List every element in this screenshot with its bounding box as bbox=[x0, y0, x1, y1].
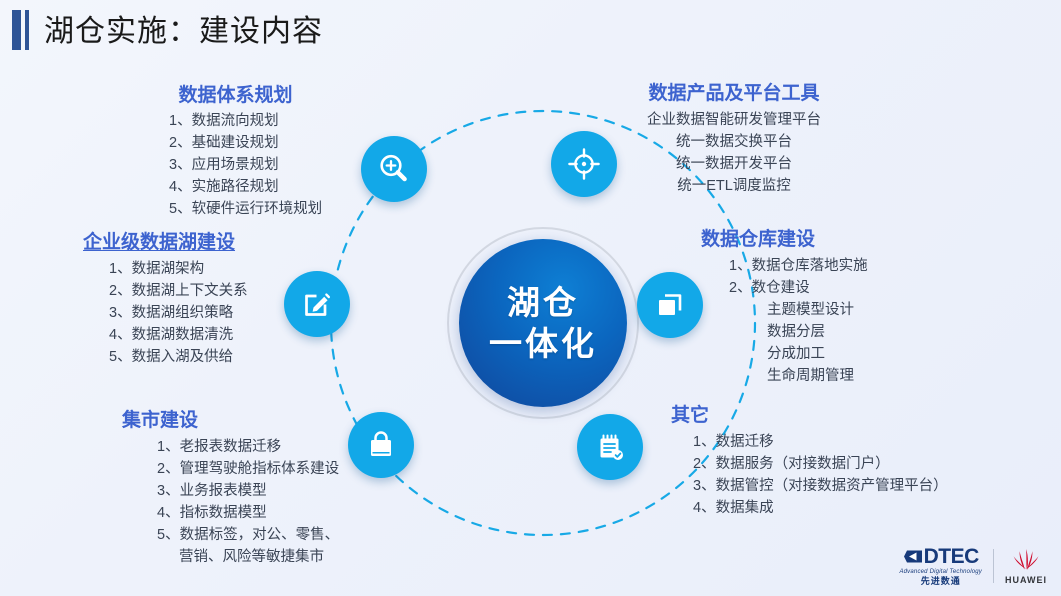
block-others: 其它 1、数据迁移 2、数据服务（对接数据门户） 3、数据管控（对接数据资产管理… bbox=[671, 404, 948, 519]
title-accent-bar-thin bbox=[25, 10, 29, 50]
node-others[interactable] bbox=[577, 414, 643, 480]
list-item: 3、数据管控（对接数据资产管理平台） bbox=[693, 475, 948, 497]
list-item: 统一ETL调度监控 bbox=[600, 175, 868, 197]
list-subitem: 生命周期管理 bbox=[729, 365, 868, 387]
list-item-continuation: 营销、风险等敏捷集市 bbox=[157, 546, 339, 568]
block-enterprise-data-lake: 企业级数据湖建设 1、数据湖架构 2、数据湖上下文关系 3、数据湖组织策略 4、… bbox=[79, 231, 248, 368]
hub-label-line1: 湖仓 bbox=[507, 282, 579, 323]
dtec-tagline: Advanced Digital Technology bbox=[899, 569, 982, 575]
list-item: 1、数据仓库落地实施 bbox=[729, 255, 868, 277]
title-accent-bar-thick bbox=[12, 10, 21, 50]
zoom-in-icon bbox=[376, 151, 412, 187]
slide-title-bar: 湖仓实施：建设内容 bbox=[0, 0, 1061, 62]
list-item: 1、数据迁移 bbox=[693, 431, 948, 453]
list-item: 1、数据流向规划 bbox=[169, 110, 322, 132]
list-item: 4、数据湖数据清洗 bbox=[109, 324, 248, 346]
block-item-list: 1、老报表数据迁移 2、管理驾驶舱指标体系建设 3、业务报表模型 4、指标数据模… bbox=[122, 436, 339, 568]
checklist-notepad-icon bbox=[592, 429, 628, 465]
block-heading: 其它 bbox=[671, 404, 948, 428]
list-item: 3、业务报表模型 bbox=[157, 480, 339, 502]
huawei-logo: HUAWEI bbox=[1005, 547, 1047, 585]
list-item: 企业数据智能研发管理平台 bbox=[600, 109, 868, 131]
list-item: 1、数据湖架构 bbox=[109, 258, 248, 280]
block-item-list: 1、数据迁移 2、数据服务（对接数据门户） 3、数据管控（对接数据资产管理平台）… bbox=[671, 431, 948, 519]
page-title: 湖仓实施：建设内容 bbox=[44, 6, 323, 50]
huawei-flower-icon bbox=[1009, 547, 1043, 573]
node-enterprise-data-lake[interactable] bbox=[284, 271, 350, 337]
block-item-list: 1、数据仓库落地实施 2、数仓建设 主题模型设计 数据分层 分成加工 生命周期管… bbox=[701, 255, 868, 387]
block-data-system-planning: 数据体系规划 1、数据流向规划 2、基础建设规划 3、应用场景规划 4、实施路径… bbox=[113, 84, 322, 220]
list-subitem: 主题模型设计 bbox=[729, 299, 868, 321]
list-item: 1、老报表数据迁移 bbox=[157, 436, 339, 458]
node-data-mart[interactable] bbox=[348, 412, 414, 478]
huawei-wordmark: HUAWEI bbox=[1005, 575, 1047, 585]
node-data-warehouse[interactable] bbox=[637, 272, 703, 338]
dtec-logo: DTEC Advanced Digital Technology 先进数通 bbox=[899, 546, 982, 586]
dtec-logo-row: DTEC bbox=[903, 546, 979, 567]
list-item: 2、管理驾驶舱指标体系建设 bbox=[157, 458, 339, 480]
block-heading: 数据体系规划 bbox=[113, 84, 322, 108]
list-item: 2、数据湖上下文关系 bbox=[109, 280, 248, 302]
list-item: 4、指标数据模型 bbox=[157, 502, 339, 524]
block-heading: 数据产品及平台工具 bbox=[600, 82, 868, 106]
shopping-bag-icon bbox=[363, 427, 399, 463]
block-data-mart: 集市建设 1、老报表数据迁移 2、管理驾驶舱指标体系建设 3、业务报表模型 4、… bbox=[122, 409, 339, 568]
block-data-products-platform: 数据产品及平台工具 企业数据智能研发管理平台 统一数据交换平台 统一数据开发平台… bbox=[600, 82, 868, 197]
list-subitem: 分成加工 bbox=[729, 343, 868, 365]
block-item-list: 企业数据智能研发管理平台 统一数据交换平台 统一数据开发平台 统一ETL调度监控 bbox=[600, 109, 868, 197]
list-item: 4、数据集成 bbox=[693, 497, 948, 519]
block-heading: 数据仓库建设 bbox=[701, 228, 868, 252]
target-icon bbox=[566, 146, 602, 182]
list-item: 4、实施路径规划 bbox=[169, 176, 322, 198]
footer-logos: DTEC Advanced Digital Technology 先进数通 HU… bbox=[899, 546, 1047, 586]
list-item: 2、基础建设规划 bbox=[169, 132, 322, 154]
block-item-list: 1、数据流向规划 2、基础建设规划 3、应用场景规划 4、实施路径规划 5、软硬… bbox=[113, 110, 322, 220]
list-item: 5、数据标签，对公、零售、 bbox=[157, 524, 339, 546]
dtec-wordmark: DTEC bbox=[924, 546, 979, 567]
hub-label-line2: 一体化 bbox=[489, 323, 597, 364]
copy-squares-icon bbox=[652, 287, 688, 323]
node-data-system-planning[interactable] bbox=[361, 136, 427, 202]
block-item-list: 1、数据湖架构 2、数据湖上下文关系 3、数据湖组织策略 4、数据湖数据清洗 5… bbox=[79, 258, 248, 368]
block-heading: 企业级数据湖建设 bbox=[79, 231, 248, 255]
block-heading: 集市建设 bbox=[122, 409, 339, 433]
list-item: 2、数仓建设 bbox=[729, 277, 868, 299]
list-item: 统一数据开发平台 bbox=[600, 153, 868, 175]
list-item: 3、应用场景规划 bbox=[169, 154, 322, 176]
list-item: 5、软硬件运行环境规划 bbox=[169, 198, 322, 220]
edit-square-icon bbox=[299, 286, 335, 322]
logo-divider bbox=[993, 549, 994, 583]
list-item: 统一数据交换平台 bbox=[600, 131, 868, 153]
list-item: 2、数据服务（对接数据门户） bbox=[693, 453, 948, 475]
list-item: 3、数据湖组织策略 bbox=[109, 302, 248, 324]
hub-center: 湖仓 一体化 bbox=[459, 239, 627, 407]
dtec-chinese-name: 先进数通 bbox=[921, 577, 961, 586]
list-item: 5、数据入湖及供给 bbox=[109, 346, 248, 368]
block-data-warehouse: 数据仓库建设 1、数据仓库落地实施 2、数仓建设 主题模型设计 数据分层 分成加… bbox=[701, 228, 868, 387]
list-subitem: 数据分层 bbox=[729, 321, 868, 343]
dtec-arrow-icon bbox=[903, 548, 923, 565]
